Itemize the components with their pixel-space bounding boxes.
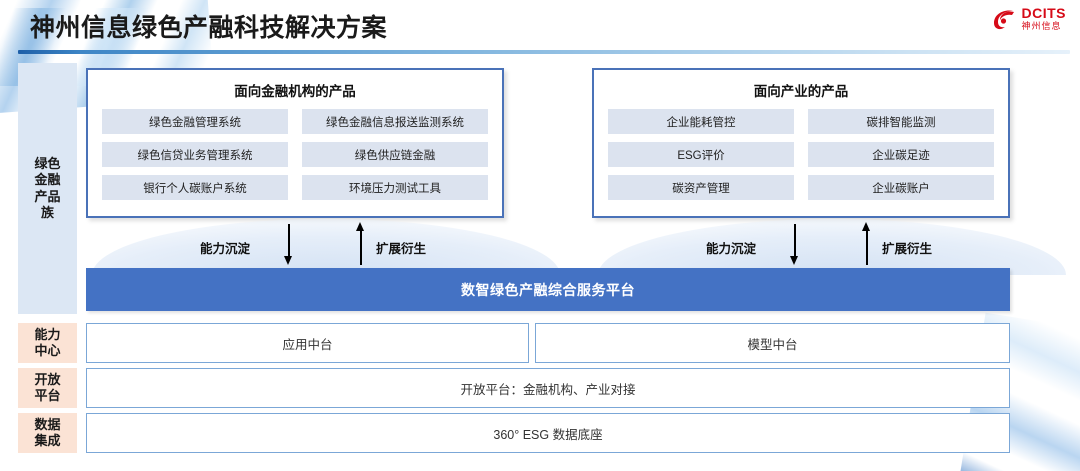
product-chip-grid: 企业能耗管控 碳排智能监测 ESG评价 企业碳足迹 碳资产管理 企业碳账户 xyxy=(594,100,1008,200)
panel-industry-products: 面向产业的产品 企业能耗管控 碳排智能监测 ESG评价 企业碳足迹 碳资产管理 … xyxy=(592,68,1010,218)
rail-label-capability-center-text: 能力中心 xyxy=(33,327,63,360)
row-open-platform[interactable]: 开放平台：金融机构、产业对接 xyxy=(86,368,1010,408)
logo-text-cn: 神州信息 xyxy=(1022,22,1067,31)
dcits-swoosh-logo-icon xyxy=(991,7,1017,31)
panel-title: 面向产业的产品 xyxy=(594,80,1008,100)
flow-label-capability-precipitation: 能力沉淀 xyxy=(706,238,756,257)
up-arrow-shaft-icon xyxy=(866,231,868,265)
product-chip[interactable]: 银行个人碳账户系统 xyxy=(102,175,288,200)
down-arrow-head-icon xyxy=(284,256,292,265)
row-model-middle-platform[interactable]: 模型中台 xyxy=(535,323,1010,363)
page-title: 神州信息绿色产融科技解决方案 xyxy=(30,8,387,44)
product-chip-grid: 绿色金融管理系统 绿色金融信息报送监测系统 绿色信贷业务管理系统 绿色供应链金融… xyxy=(88,100,502,200)
rail-label-capability-center: 能力中心 xyxy=(18,323,77,363)
product-chip[interactable]: 企业碳账户 xyxy=(808,175,994,200)
rail-label-data-integration-text: 数据集成 xyxy=(33,417,63,450)
product-chip[interactable]: 绿色供应链金融 xyxy=(302,142,488,167)
up-arrow-head-icon xyxy=(862,222,870,231)
flow-label-capability-precipitation: 能力沉淀 xyxy=(200,238,250,257)
rail-label-data-integration: 数据集成 xyxy=(18,413,77,453)
product-chip[interactable]: 绿色金融信息报送监测系统 xyxy=(302,109,488,134)
flow-label-expansion-derivative: 扩展衍生 xyxy=(882,238,932,257)
flow-arrows-right: 能力沉淀 扩展衍生 xyxy=(706,222,956,274)
down-arrow-shaft-icon xyxy=(288,224,290,258)
product-chip[interactable]: 环境压力测试工具 xyxy=(302,175,488,200)
up-arrow-shaft-icon xyxy=(360,231,362,265)
brand-logo: DCITS 神州信息 xyxy=(991,6,1067,31)
up-arrow-head-icon xyxy=(356,222,364,231)
flow-label-expansion-derivative: 扩展衍生 xyxy=(376,238,426,257)
product-chip[interactable]: 碳排智能监测 xyxy=(808,109,994,134)
rail-label-open-platform: 开放平台 xyxy=(18,368,77,408)
panel-financial-institution-products: 面向金融机构的产品 绿色金融管理系统 绿色金融信息报送监测系统 绿色信贷业务管理… xyxy=(86,68,504,218)
product-chip[interactable]: ESG评价 xyxy=(608,142,794,167)
flow-arrows-left: 能力沉淀 扩展衍生 xyxy=(200,222,450,274)
down-arrow-head-icon xyxy=(790,256,798,265)
rail-label-open-platform-text: 开放平台 xyxy=(33,372,63,405)
platform-bar: 数智绿色产融综合服务平台 xyxy=(86,268,1010,311)
product-chip[interactable]: 企业碳足迹 xyxy=(808,142,994,167)
product-chip[interactable]: 绿色信贷业务管理系统 xyxy=(102,142,288,167)
rail-label-green-finance-text: 绿色金融产品族 xyxy=(33,156,63,221)
product-chip[interactable]: 企业能耗管控 xyxy=(608,109,794,134)
product-chip[interactable]: 绿色金融管理系统 xyxy=(102,109,288,134)
panel-title: 面向金融机构的产品 xyxy=(88,80,502,100)
slide-canvas: 神州信息绿色产融科技解决方案 DCITS 神州信息 绿色金融产品族 能力中心 开… xyxy=(0,0,1080,471)
rail-label-green-finance: 绿色金融产品族 xyxy=(18,63,77,314)
row-application-middle-platform[interactable]: 应用中台 xyxy=(86,323,529,363)
down-arrow-shaft-icon xyxy=(794,224,796,258)
logo-text-en: DCITS xyxy=(1022,6,1067,20)
title-underline-rule xyxy=(18,50,1070,54)
row-data-foundation[interactable]: 360° ESG 数据底座 xyxy=(86,413,1010,453)
platform-bar-label: 数智绿色产融综合服务平台 xyxy=(461,280,635,300)
product-chip[interactable]: 碳资产管理 xyxy=(608,175,794,200)
